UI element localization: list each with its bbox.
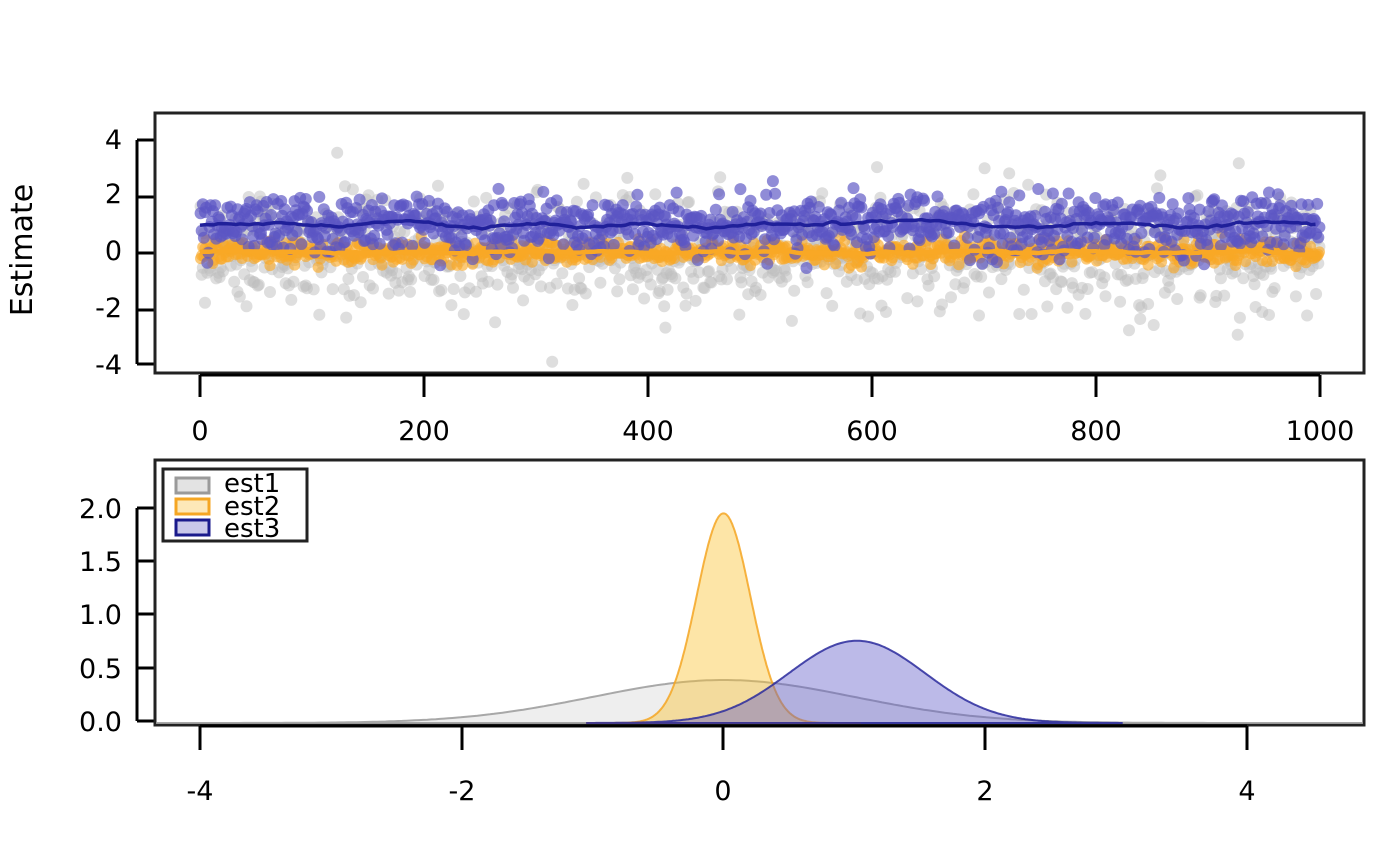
scatter-point [300,193,312,205]
top-y-tick-label: 0 [105,236,122,267]
scatter-point [313,309,325,321]
scatter-point [662,284,674,296]
scatter-point [802,276,814,288]
scatter-point [557,238,569,250]
scatter-point [1249,278,1261,290]
scatter-point [1153,192,1165,204]
legend-swatch-est3 [176,520,209,535]
scatter-point [199,297,211,309]
scatter-point [1018,284,1030,296]
scatter-point [1148,319,1160,331]
scatter-point [979,162,991,174]
scatter-point [1135,227,1147,239]
scatter-point [468,196,480,208]
scatter-point [566,299,578,311]
scatter-point [871,161,883,173]
density-legend[interactable]: est1 est2 est3 [163,469,307,544]
scatter-point [1232,329,1244,341]
scatter-point [209,199,221,211]
scatter-point [1061,302,1073,314]
scatter-point [669,272,681,284]
legend-label-est3: est3 [224,514,280,544]
scatter-point [1310,288,1322,300]
scatter-point [551,194,563,206]
scatter-point [491,279,503,291]
scatter-point [761,258,773,270]
scatter-point [767,175,779,187]
top-x-tick-label: 600 [846,416,898,447]
scatter-point [1023,235,1035,247]
scatter-point [1201,239,1213,251]
figure-canvas: Estimate 4 2 0 -2 -4 [0,0,1400,866]
scatter-point [1047,188,1059,200]
scatter-point [1263,309,1275,321]
scatter-point [964,254,976,266]
scatter-point [1088,232,1100,244]
scatter-point [613,273,625,285]
bottom-x-tick-label: -4 [187,776,214,807]
scatter-point [621,172,633,184]
scatter-point [975,271,987,283]
scatter-point [1198,258,1210,270]
bottom-y-tick-label: 2.0 [79,494,122,525]
scatter-point [1272,188,1284,200]
bottom-x-tick-label: -2 [449,776,476,807]
scatter-point [725,263,737,275]
scatter-point [1178,255,1190,267]
scatter-point [489,316,501,328]
scatter-point [649,188,661,200]
top-x-tick-label: 200 [398,416,450,447]
top-x-axis [200,375,1320,397]
scatter-point [780,271,792,283]
scatter-point [801,262,813,274]
scatter-point [826,300,838,312]
scatter-point [285,294,297,306]
scatter-point [1172,207,1184,219]
scatter-point [432,180,444,192]
bottom-x-axis [200,726,1247,750]
scatter-point [1100,290,1112,302]
scatter-point [713,188,725,200]
scatter-point [1195,289,1207,301]
scatter-point [1026,308,1038,320]
scatter-point [367,283,379,295]
scatter-point [327,283,339,295]
y-axis-label: Estimate [5,184,40,317]
scatter-point [445,299,457,311]
scatter-point [1032,183,1044,195]
scatter-point [556,267,568,279]
bottom-y-tick-labels: 2.0 1.5 1.0 0.5 0.0 [79,494,122,738]
scatter-point [435,284,447,296]
bottom-x-tick-labels: -4 -2 0 2 4 [187,776,1256,807]
scatter-point [683,196,695,208]
scatter-point [354,194,366,206]
scatter-point [769,188,781,200]
scatter-point [932,191,944,203]
scatter-point [460,239,472,251]
scatter-point [745,195,757,207]
scatter-point [347,183,359,195]
scatter-point [497,199,509,211]
scatter-point [1216,199,1228,211]
scatter-point [537,186,549,198]
top-x-tick-label: 400 [622,416,674,447]
scatter-point [829,240,841,252]
scatter-point [1301,310,1313,322]
legend-swatch-est1 [176,478,209,493]
scatter-point [1056,198,1068,210]
scatter-point [1003,196,1015,208]
scatter-point [1234,312,1246,324]
scatter-point [405,274,417,286]
scatter-point [880,306,892,318]
scatter-point [1237,272,1249,284]
scatter-point [995,186,1007,198]
top-y-tick-label: 2 [105,179,122,210]
scatter-point [448,283,460,295]
bottom-y-tick-label: 0.0 [79,707,122,738]
scatter-point [313,191,325,203]
scatter-point [376,260,387,271]
scatter-point [1079,308,1091,320]
scatter-point [1182,192,1194,204]
scatter-point [943,227,955,239]
scatter-point [376,192,388,204]
scatter-point [428,274,440,286]
scatter-point [830,258,841,269]
scatter-point [1063,188,1075,200]
scatter-point [658,300,670,312]
scatter-point [331,147,343,159]
scatter-point [690,295,702,307]
scatter-point [821,287,833,299]
scatter-point [659,322,671,334]
top-x-tick-label: 800 [1070,416,1122,447]
scatter-point [928,270,940,282]
scatter-point [1112,197,1124,209]
scatter-point [295,238,307,250]
top-x-tick-label: 1000 [1286,416,1355,447]
scatter-point [419,237,431,249]
scatter-point [546,356,558,368]
scatter-point [507,282,519,294]
scatter-point [855,202,867,214]
bottom-y-tick-label: 0.5 [79,654,122,685]
scatter-point [1142,298,1154,310]
bottom-x-tick-label: 0 [714,776,731,807]
scatter-point [264,286,276,298]
scatter-point [1290,290,1302,302]
scatter-point [1056,276,1068,288]
scatter-point [714,171,726,183]
scatter-point [253,279,265,291]
scatter-point [404,286,416,298]
scatter-point [340,312,352,324]
scatter-point [848,182,860,194]
top-y-tick-label: -4 [95,350,122,381]
top-y-tick-label: -2 [95,293,122,324]
scatter-point [1154,169,1166,181]
scatter-point [1233,157,1245,169]
scatter-point [918,195,930,207]
bottom-x-tick-label: 2 [976,776,993,807]
scatter-point [1114,296,1126,308]
scatter-point [862,311,874,323]
scatter-point [1082,283,1094,295]
scatter-point [1312,232,1324,244]
scatter-point [551,278,563,290]
scatter-point [1218,290,1230,302]
scatter-point [733,309,745,321]
scatter-point [1171,293,1183,305]
scatter-point [1098,271,1110,283]
scatter-point [1311,198,1323,210]
scatter-point [578,178,590,190]
scatter-point [265,209,277,221]
scatter-point [355,296,367,308]
top-x-tick-labels: 0 200 400 600 800 1000 [191,416,1354,447]
scatter-point [587,199,599,211]
scatter-point [1013,189,1025,201]
scatter-point [580,288,592,300]
legend-swatch-est2 [176,499,209,514]
scatter-point [631,189,643,201]
bottom-y-tick-label: 1.0 [79,600,122,631]
scatter-point [1041,301,1053,313]
scatter-point [1013,308,1025,320]
top-y-tick-labels: 4 2 0 -2 -4 [95,125,122,381]
scatter-point [454,270,466,282]
scatter-point [671,187,683,199]
scatter-point [911,295,923,307]
scatter-panel: Estimate 4 2 0 -2 -4 [5,113,1364,447]
scatter-point [374,238,386,250]
scatter-point [264,260,275,271]
bottom-y-axis [137,508,155,721]
scatter-point [856,261,867,272]
top-y-axis [137,140,155,364]
scatter-point [301,205,313,217]
density-panel: 2.0 1.5 1.0 0.5 0.0 [56,460,1391,807]
scatter-point [594,277,606,289]
scatter-point [755,289,767,301]
scatter-point [308,283,320,295]
scatter-point [721,273,733,285]
scatter-point [1269,282,1281,294]
scatter-point [816,187,828,199]
scatter-point [1134,313,1146,325]
scatter-point [434,259,446,271]
scatter-point [627,283,639,295]
scatter-point [517,294,529,306]
plot-svg: Estimate 4 2 0 -2 -4 [0,0,1400,866]
scatter-point [383,288,395,300]
scatter-point [1163,281,1175,293]
scatter-point [958,277,970,289]
scatter-point [788,285,800,297]
scatter-point [734,183,746,195]
scatter-point [543,252,555,264]
scatter-point [1123,324,1135,336]
scatter-point [291,226,303,238]
scatter-point [967,188,979,200]
scatter-point [786,315,798,327]
scatter-point [638,293,650,305]
scatter-point [1003,167,1015,179]
scatter-point [611,285,623,297]
scatter-point [493,183,505,195]
scatter-point [973,310,985,322]
scatter-point [945,291,957,303]
top-x-tick-label: 0 [191,416,208,447]
scatter-point [458,308,470,320]
scatter-point [991,256,1003,268]
bottom-y-tick-label: 1.5 [79,547,122,578]
top-y-tick-label: 4 [105,125,122,156]
bottom-x-tick-label: 4 [1238,776,1255,807]
scatter-point [241,300,253,312]
scatter-point [983,287,995,299]
